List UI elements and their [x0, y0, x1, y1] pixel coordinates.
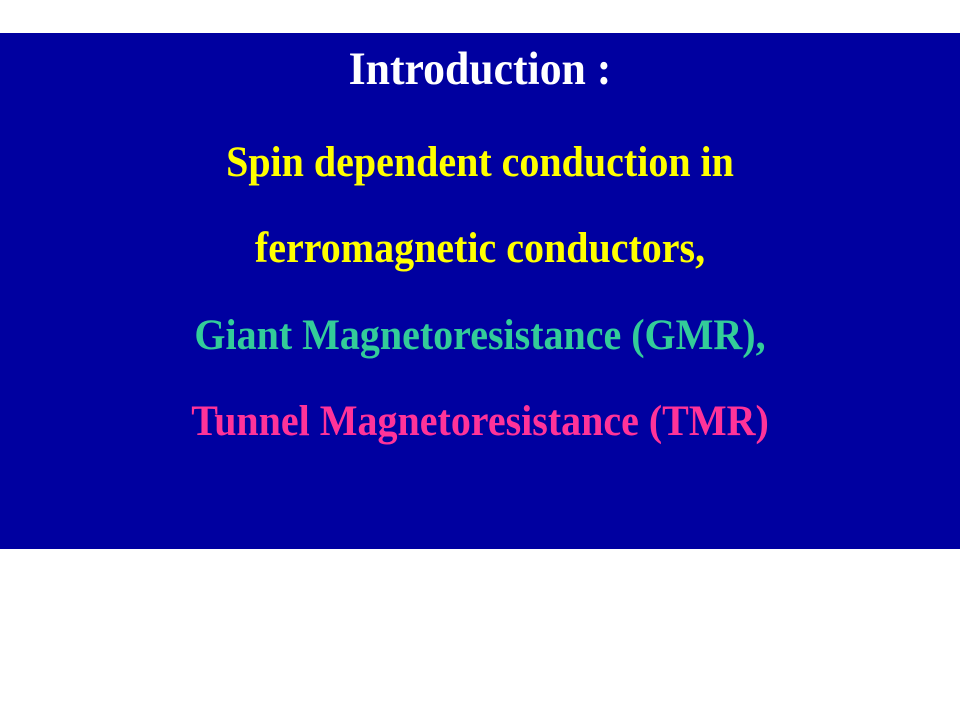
slide-line-ferromagnetic-conductors: ferromagnetic conductors,: [34, 227, 927, 270]
slide-title: Introduction :: [34, 46, 927, 93]
slide-line-tunnel-magnetoresistance: Tunnel Magnetoresistance (TMR): [34, 400, 927, 443]
slide-line-spin-dependent-conduction: Spin dependent conduction in: [34, 141, 927, 184]
slide-content-panel: Introduction : Spin dependent conduction…: [0, 33, 960, 549]
slide-canvas: Introduction : Spin dependent conduction…: [0, 0, 960, 720]
slide-footer-margin: [0, 549, 960, 720]
slide-line-giant-magnetoresistance: Giant Magnetoresistance (GMR),: [34, 314, 927, 357]
slide-header-margin: [0, 0, 960, 33]
